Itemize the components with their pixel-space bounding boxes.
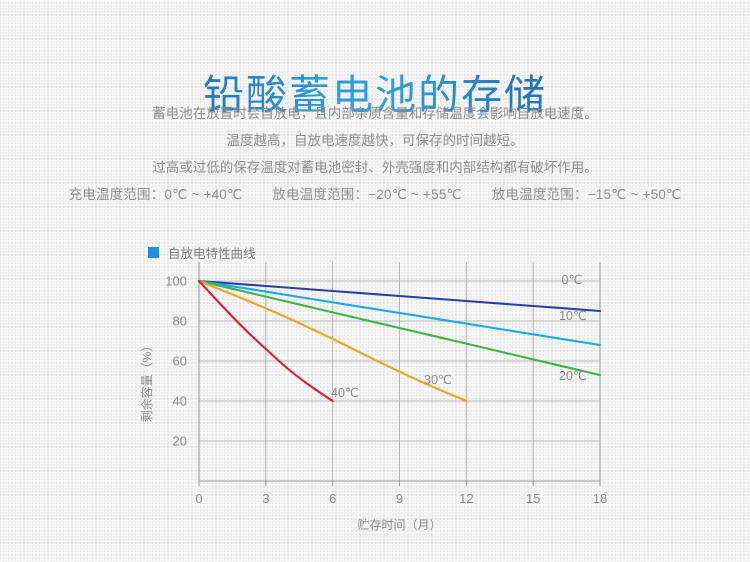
x-tick-label: 0 <box>195 491 202 506</box>
legend-label: 自放电特性曲线 <box>168 243 256 262</box>
intro-paragraph: 蓄电池在放置时会自放电，且内部杂质含量和存储温度会影响自放电速度。 温度越高，自… <box>0 100 750 208</box>
y-tick-label: 20 <box>173 434 187 449</box>
y-tick-label: 40 <box>173 394 187 409</box>
page-root: 铅酸蓄电池的存储 蓄电池在放置时会自放电，且内部杂质含量和存储温度会影响自放电速… <box>0 0 750 562</box>
x-tick-label: 3 <box>262 491 269 506</box>
intro-line-3: 过高或过低的保存温度对蓄电池密封、外壳强度和内部结构都有破坏作用。 <box>0 154 750 181</box>
intro-temperature-ranges: 充电温度范围：0℃ ~ +40℃ 放电温度范围：−20℃ ~ +55℃ 放电温度… <box>0 181 750 208</box>
series-label-20c: 20℃ <box>559 369 587 383</box>
series-label-30c: 30℃ <box>424 373 452 387</box>
legend-swatch-icon <box>148 247 159 258</box>
self-discharge-chart: 204060801000369121518贮存时间（月）剩余容量（%）0℃10℃… <box>0 262 750 537</box>
discharge-temperature-range-2: 放电温度范围：−15℃ ~ +50℃ <box>492 187 682 202</box>
intro-line-1: 蓄电池在放置时会自放电，且内部杂质含量和存储温度会影响自放电速度。 <box>0 100 750 127</box>
chart-legend: 自放电特性曲线 <box>148 243 256 262</box>
x-axis-title: 贮存时间（月） <box>357 517 441 532</box>
x-tick-label: 18 <box>593 491 607 506</box>
x-tick-label: 15 <box>526 491 540 506</box>
discharge-temperature-range-1: 放电温度范围：−20℃ ~ +55℃ <box>272 187 462 202</box>
intro-line-2: 温度越高，自放电速度越快，可保存的时间越短。 <box>0 127 750 154</box>
y-tick-label: 60 <box>173 354 187 369</box>
y-axis-title: 剩余容量（%） <box>139 340 154 423</box>
y-tick-label: 80 <box>173 314 187 329</box>
series-label-40c: 40℃ <box>331 386 359 400</box>
x-tick-label: 9 <box>396 491 403 506</box>
x-tick-label: 6 <box>329 491 336 506</box>
series-label-0c: 0℃ <box>562 273 583 287</box>
charge-temperature-range: 充电温度范围：0℃ ~ +40℃ <box>69 187 243 202</box>
x-tick-label: 12 <box>459 491 473 506</box>
chart-canvas: 204060801000369121518贮存时间（月）剩余容量（%）0℃10℃… <box>0 262 750 537</box>
series-label-10c: 10℃ <box>559 309 587 323</box>
y-tick-label: 100 <box>165 274 187 289</box>
